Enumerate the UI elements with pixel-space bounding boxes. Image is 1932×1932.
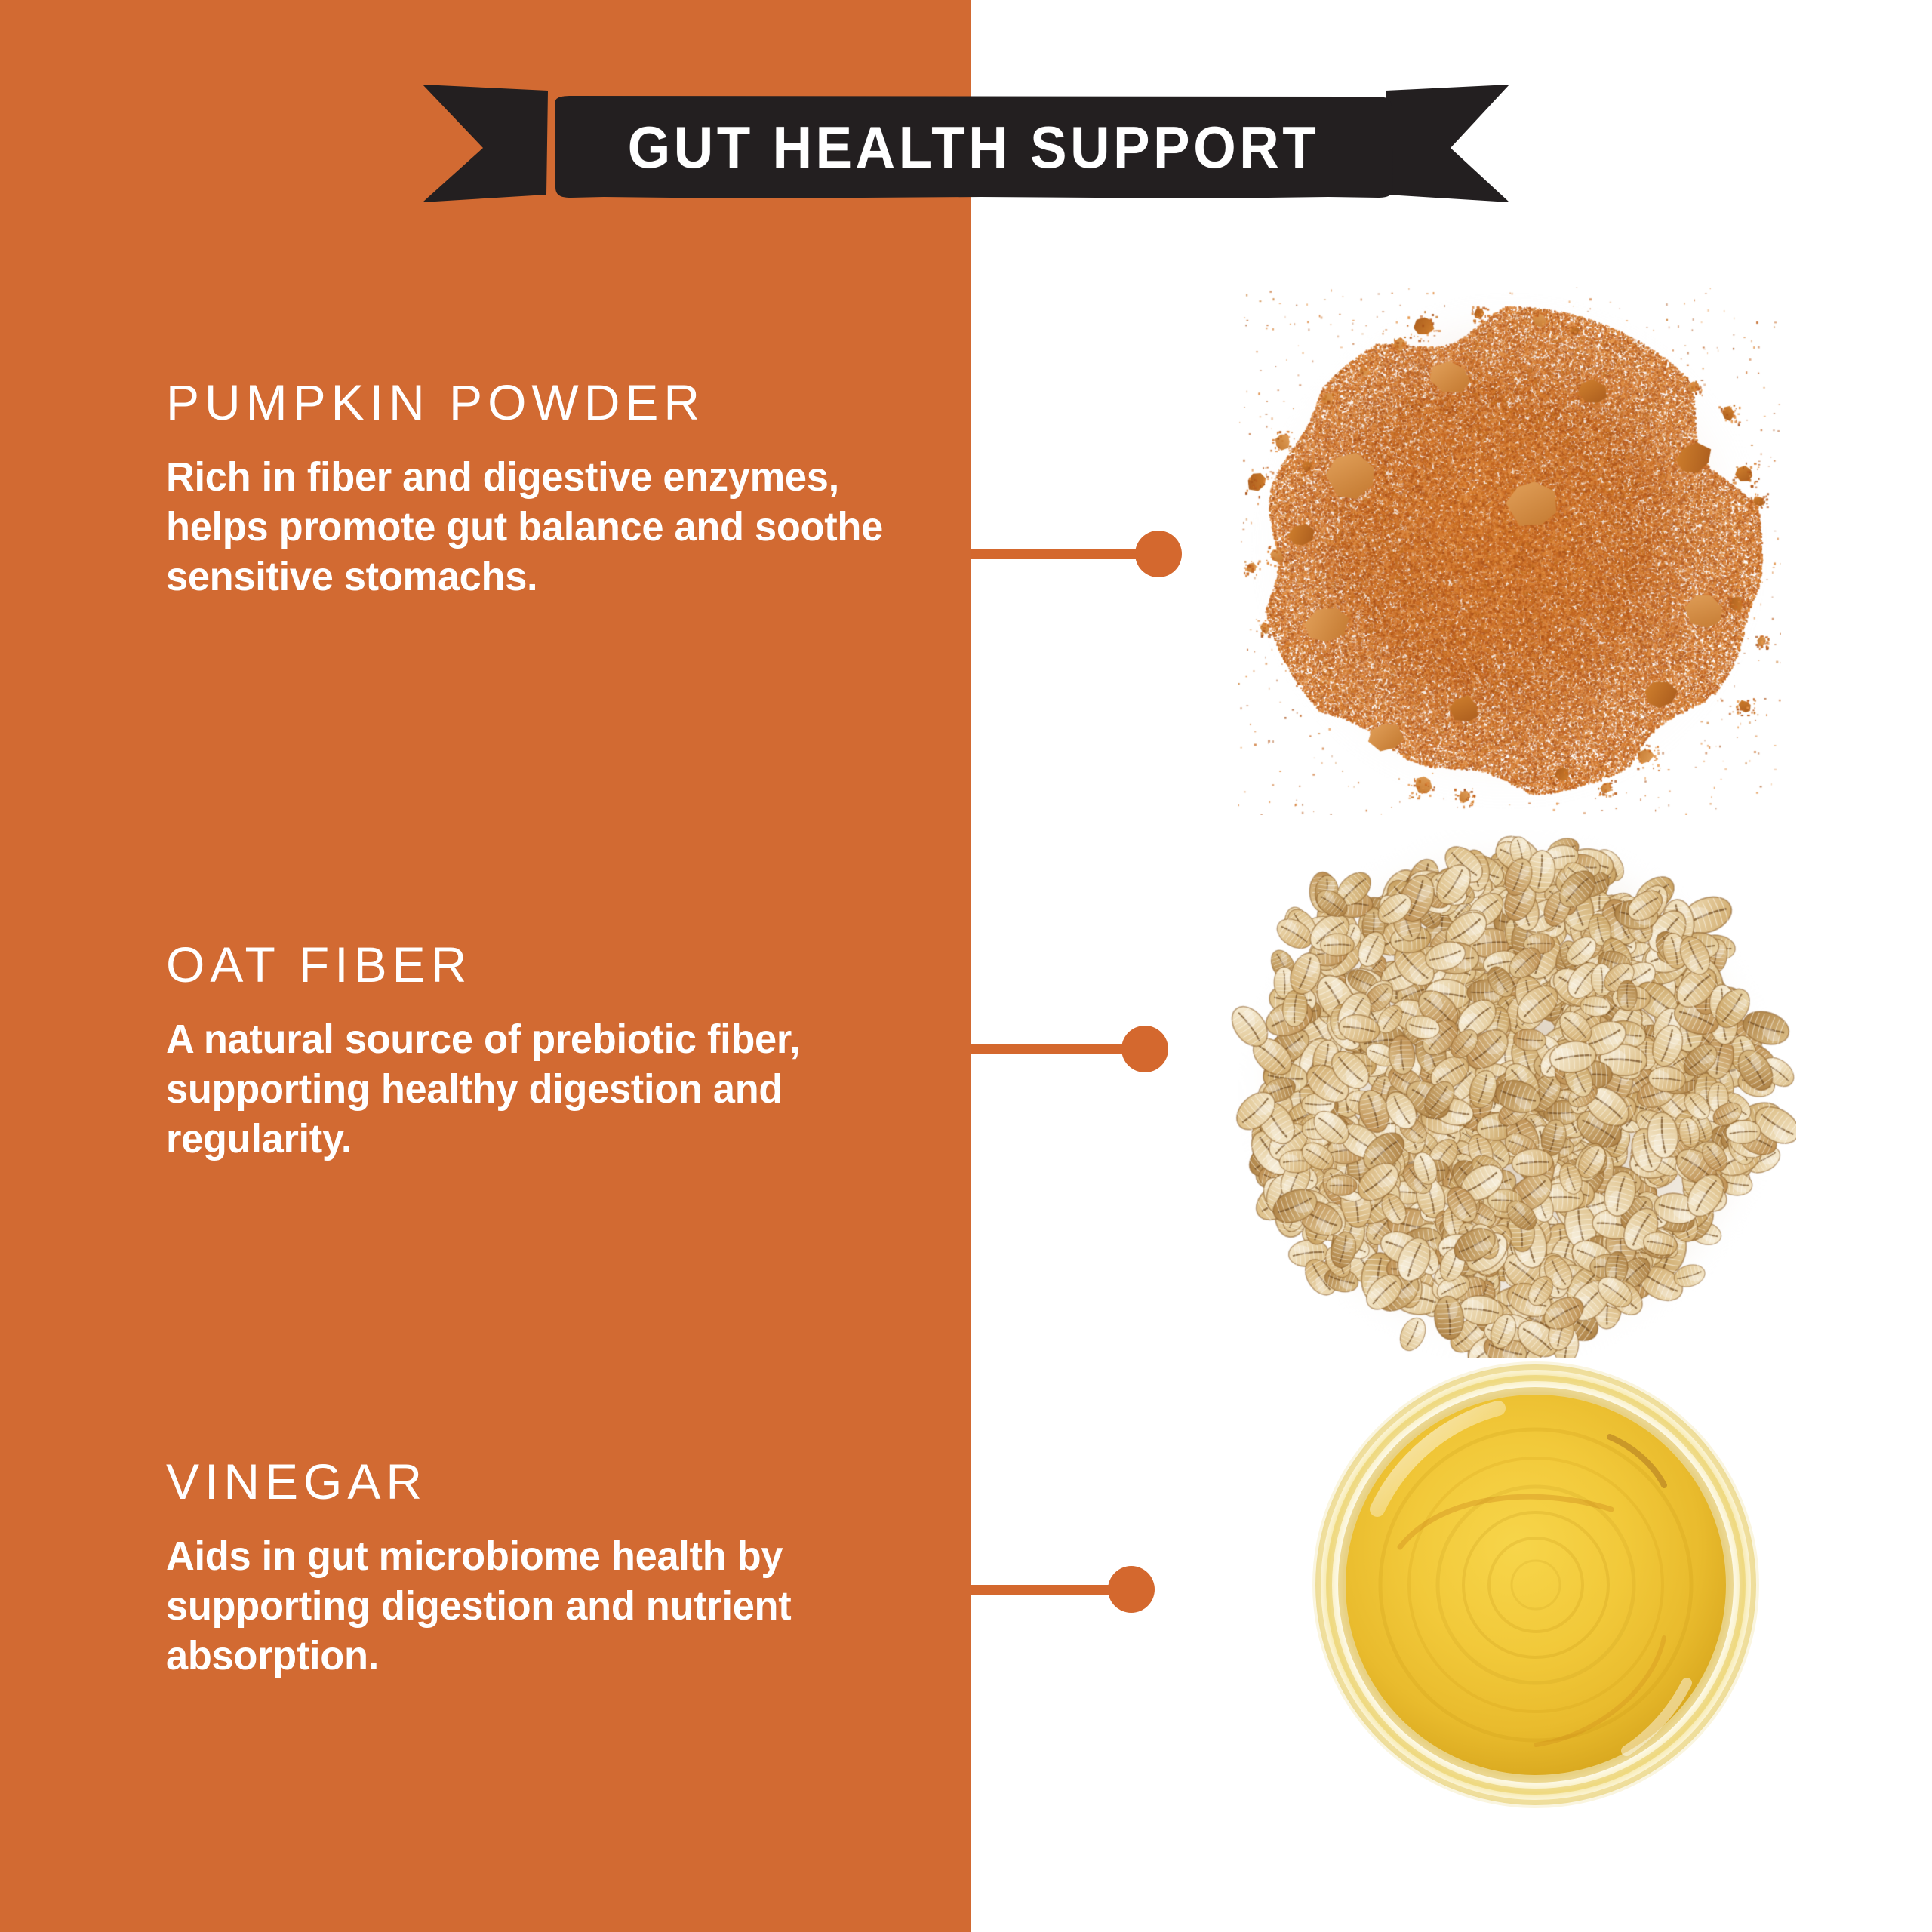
section-body-pumpkin-powder: Rich in fiber and digestive enzymes, hel… [166, 453, 906, 602]
section-vinegar-text: VINEGAR Aids in gut microbiome health by… [166, 1457, 928, 1681]
section-pumpkin-powder-text: PUMPKIN POWDER Rich in fiber and digesti… [166, 377, 928, 602]
vinegar-bowl-shape [1309, 1358, 1762, 1811]
oat-flakes-pile-image [1223, 830, 1796, 1358]
banner-title: GUT HEALTH SUPPORT [584, 97, 1363, 198]
connector-line [971, 1585, 1131, 1595]
section-body-oat-fiber: A natural source of prebiotic fiber, sup… [166, 1015, 906, 1164]
section-oat-fiber-text: OAT FIBER A natural source of prebiotic … [166, 940, 928, 1164]
vinegar-bowl-image [1309, 1358, 1932, 1811]
section-heading-pumpkin-powder: PUMPKIN POWDER [166, 377, 928, 427]
connector-dot [1108, 1566, 1155, 1613]
section-heading-oat-fiber: OAT FIBER [166, 940, 928, 989]
connector-dot [1135, 531, 1182, 577]
connector-line [971, 1044, 1143, 1054]
connector-line [971, 549, 1155, 559]
section-body-vinegar: Aids in gut microbiome health by support… [166, 1532, 906, 1681]
banner: GUT HEALTH SUPPORT [0, 0, 1932, 226]
section-heading-vinegar: VINEGAR [166, 1457, 928, 1506]
connector-dot [1121, 1026, 1168, 1072]
pumpkin-powder-pile-image [1238, 287, 1781, 815]
